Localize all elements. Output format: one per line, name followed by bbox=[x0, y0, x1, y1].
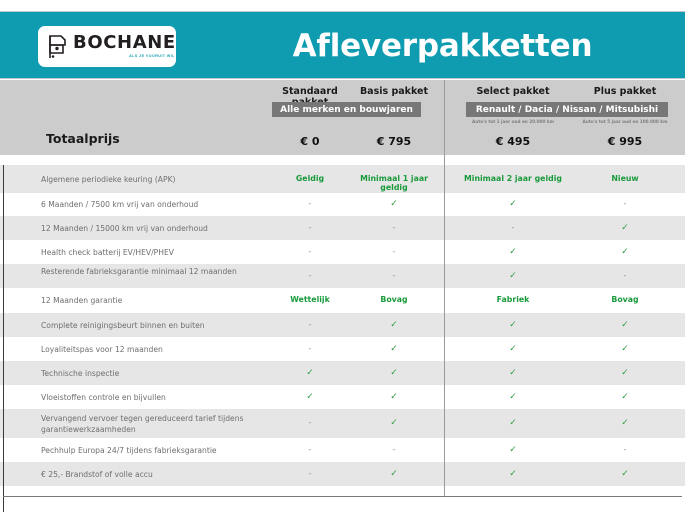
cell-select: Fabriek bbox=[461, 295, 565, 304]
table-bottom-rule bbox=[3, 496, 682, 497]
cell-basis: ✓ bbox=[352, 469, 436, 479]
cell-select: - bbox=[461, 223, 565, 232]
row-label: Loyaliteitspas voor 12 maanden bbox=[41, 344, 246, 355]
cell-basis: - bbox=[352, 223, 436, 232]
package-header-band: Totaalprijs Standaard pakket Basis pakke… bbox=[0, 80, 685, 155]
row-edge-tick bbox=[3, 337, 4, 361]
row-edge-tick bbox=[3, 486, 4, 512]
row-label: € 25,- Brandstof of volle accu bbox=[41, 469, 246, 480]
row-label: 6 Maanden / 7500 km vrij van onderhoud bbox=[41, 199, 246, 210]
row-label: Technische inspectie bbox=[41, 368, 246, 379]
cell-standaard: - bbox=[268, 247, 352, 256]
cell-select: ✓ bbox=[461, 445, 565, 455]
cell-standaard: - bbox=[268, 271, 352, 280]
row-edge-tick bbox=[3, 409, 4, 438]
column-header-basis: Basis pakket bbox=[352, 86, 436, 97]
cell-plus: ✓ bbox=[573, 469, 677, 479]
row-edge-tick bbox=[3, 385, 4, 409]
cell-plus: ✓ bbox=[573, 368, 677, 378]
cell-plus: ✓ bbox=[573, 223, 677, 233]
row-edge-tick bbox=[3, 361, 4, 385]
cell-standaard: - bbox=[268, 418, 352, 427]
column-header-plus: Plus pakket bbox=[573, 86, 677, 97]
cell-select: ✓ bbox=[461, 469, 565, 479]
row-edge-tick bbox=[3, 165, 4, 193]
cell-select: ✓ bbox=[461, 199, 565, 209]
cell-basis: ✓ bbox=[352, 199, 436, 209]
row-label: Algemene periodieke keuring (APK) bbox=[41, 174, 246, 185]
table-row: Algemene periodieke keuring (APK)GeldigM… bbox=[0, 165, 685, 193]
bochane-logo-icon bbox=[46, 34, 68, 60]
cell-plus: ✓ bbox=[573, 247, 677, 257]
cell-standaard: Wettelijk bbox=[268, 295, 352, 304]
cell-select: ✓ bbox=[461, 271, 565, 281]
logo-tagline: ALS JE VOORUIT WIL bbox=[129, 55, 175, 59]
table-row: € 25,- Brandstof of volle accu-✓✓✓ bbox=[0, 462, 685, 486]
cell-basis: ✓ bbox=[352, 368, 436, 378]
cell-standaard: - bbox=[268, 344, 352, 353]
cell-plus: ✓ bbox=[573, 344, 677, 354]
cell-basis: - bbox=[352, 247, 436, 256]
cell-plus: ✓ bbox=[573, 418, 677, 428]
row-edge-tick bbox=[3, 438, 4, 462]
row-label: 12 Maanden garantie bbox=[41, 295, 246, 306]
cell-standaard: Geldig bbox=[268, 174, 352, 183]
row-label: Pechhulp Europa 24/7 tijdens fabrieksgar… bbox=[41, 445, 246, 456]
price-standaard: € 0 bbox=[268, 135, 352, 148]
table-row: 12 Maanden garantieWettelijkBovagFabriek… bbox=[0, 288, 685, 313]
cell-select: ✓ bbox=[461, 320, 565, 330]
cell-standaard: - bbox=[268, 199, 352, 208]
page-banner: BOCHANE ALS JE VOORUIT WIL Afleverpakket… bbox=[0, 11, 685, 79]
row-label: Vervangend vervoer tegen gereduceerd tar… bbox=[41, 413, 246, 435]
row-edge-tick bbox=[3, 193, 4, 216]
cell-plus: - bbox=[573, 445, 677, 454]
cell-select: ✓ bbox=[461, 418, 565, 428]
cell-plus: ✓ bbox=[573, 392, 677, 402]
cell-basis: ✓ bbox=[352, 320, 436, 330]
cell-basis: - bbox=[352, 445, 436, 454]
column-group-divider bbox=[444, 80, 445, 497]
note-plus: Auto's tot 5 jaar oud en 100.000 km bbox=[573, 119, 677, 124]
table-row: 6 Maanden / 7500 km vrij van onderhoud-✓… bbox=[0, 193, 685, 216]
row-label: Resterende fabrieksgarantie minimaal 12 … bbox=[41, 266, 246, 277]
cell-basis: - bbox=[352, 271, 436, 280]
left-package-group: Standaard pakket Basis pakket Alle merke… bbox=[0, 80, 444, 155]
cell-select: ✓ bbox=[461, 368, 565, 378]
table-row: Resterende fabrieksgarantie minimaal 12 … bbox=[0, 264, 685, 288]
cell-select: ✓ bbox=[461, 247, 565, 257]
row-label: Health check batterij EV/HEV/PHEV bbox=[41, 247, 246, 258]
cell-plus: Nieuw bbox=[573, 174, 677, 183]
column-header-select: Select pakket bbox=[461, 86, 565, 97]
cell-plus: - bbox=[573, 199, 677, 208]
cell-standaard: ✓ bbox=[268, 392, 352, 402]
price-select: € 495 bbox=[461, 135, 565, 148]
cell-standaard: ✓ bbox=[268, 368, 352, 378]
bochane-logo[interactable]: BOCHANE ALS JE VOORUIT WIL bbox=[38, 26, 176, 67]
cell-standaard: - bbox=[268, 223, 352, 232]
table-row: Loyaliteitspas voor 12 maanden-✓✓✓ bbox=[0, 337, 685, 361]
cell-standaard: - bbox=[268, 445, 352, 454]
table-row: Health check batterij EV/HEV/PHEV--✓✓ bbox=[0, 240, 685, 264]
table-top-spacer bbox=[0, 155, 685, 165]
cell-plus: ✓ bbox=[573, 320, 677, 330]
table-row: Technische inspectie✓✓✓✓ bbox=[0, 361, 685, 385]
row-edge-tick bbox=[3, 313, 4, 337]
cell-basis: Bovag bbox=[352, 295, 436, 304]
brand-bar-all-makes: Alle merken en bouwjaren bbox=[272, 102, 421, 117]
cell-plus: Bovag bbox=[573, 295, 677, 304]
row-edge-tick bbox=[3, 240, 4, 264]
cell-select: ✓ bbox=[461, 344, 565, 354]
package-comparison-table: Algemene periodieke keuring (APK)GeldigM… bbox=[0, 155, 685, 497]
row-edge-tick bbox=[3, 462, 4, 486]
cell-basis: ✓ bbox=[352, 344, 436, 354]
cell-select: ✓ bbox=[461, 392, 565, 402]
row-label: 12 Maanden / 15000 km vrij van onderhoud bbox=[41, 223, 246, 234]
price-basis: € 795 bbox=[352, 135, 436, 148]
row-edge-tick bbox=[3, 264, 4, 288]
cell-basis: Minimaal 1 jaar geldig bbox=[352, 174, 436, 192]
cell-basis: ✓ bbox=[352, 392, 436, 402]
table-bottom-spacer bbox=[0, 486, 685, 512]
table-row: 12 Maanden / 15000 km vrij van onderhoud… bbox=[0, 216, 685, 240]
row-edge-tick bbox=[3, 288, 4, 313]
logo-wordmark: BOCHANE bbox=[73, 34, 176, 52]
table-row: Vloeistoffen controle en bijvullen✓✓✓✓ bbox=[0, 385, 685, 409]
row-label: Complete reinigingsbeurt binnen en buite… bbox=[41, 320, 246, 331]
note-select: Auto's tot 1 jaar oud en 20.000 km bbox=[461, 119, 565, 124]
price-plus: € 995 bbox=[573, 135, 677, 148]
row-edge-tick bbox=[3, 216, 4, 240]
table-row: Complete reinigingsbeurt binnen en buite… bbox=[0, 313, 685, 337]
cell-select: Minimaal 2 jaar geldig bbox=[461, 174, 565, 183]
cell-standaard: - bbox=[268, 320, 352, 329]
right-package-group: Select pakket Plus pakket Renault / Daci… bbox=[446, 80, 685, 155]
row-label: Vloeistoffen controle en bijvullen bbox=[41, 392, 246, 403]
cell-standaard: - bbox=[268, 469, 352, 478]
table-row: Pechhulp Europa 24/7 tijdens fabrieksgar… bbox=[0, 438, 685, 462]
cell-plus: - bbox=[573, 271, 677, 280]
page-title: Afleverpakketten bbox=[200, 12, 685, 80]
brand-bar-renault-group: Renault / Dacia / Nissan / Mitsubishi bbox=[466, 102, 668, 117]
cell-basis: ✓ bbox=[352, 418, 436, 428]
table-row: Vervangend vervoer tegen gereduceerd tar… bbox=[0, 409, 685, 438]
